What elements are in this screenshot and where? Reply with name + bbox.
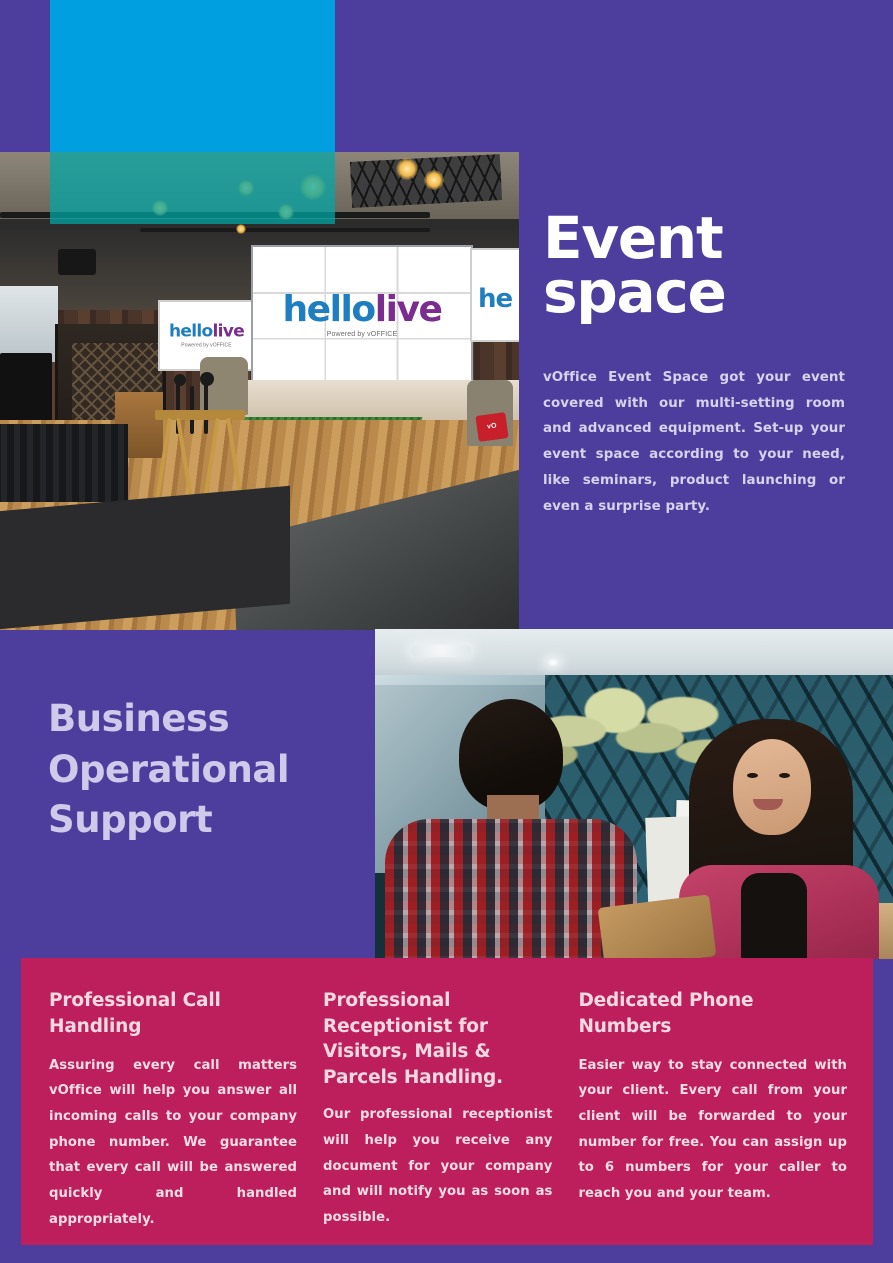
draped-table (0, 424, 128, 502)
eye (747, 773, 758, 778)
eye (779, 773, 790, 778)
left-window (0, 286, 58, 362)
stage-lamp (152, 200, 168, 216)
feature-column-call-handling: Professional Call Handling Assuring ever… (49, 988, 323, 1227)
ceiling-light-strip (411, 645, 471, 657)
event-space-text-block: Event space vOffice Event Space got your… (543, 212, 845, 519)
cyan-accent-block (50, 0, 335, 152)
business-operational-support-title: Business Operational Support (48, 694, 378, 846)
stage-lamp (396, 158, 418, 180)
ceiling-downlight (547, 659, 559, 666)
stage-lamp (238, 180, 254, 196)
ceiling-projector (58, 249, 96, 275)
inner-top (741, 873, 807, 959)
feature-column-receptionist: Professional Receptionist for Visitors, … (323, 988, 578, 1227)
stage-lamp (300, 174, 326, 200)
visitor-figure (395, 699, 627, 959)
feature-heading: Dedicated Phone Numbers (578, 988, 847, 1041)
cushion-label: vO (475, 412, 508, 442)
branded-cushion: vO (475, 412, 508, 442)
features-card: Professional Call Handling Assuring ever… (21, 958, 873, 1245)
hellolive-hello-text: he (478, 284, 512, 314)
page-title-line-2: space (543, 258, 726, 326)
plaid-shirt (385, 819, 637, 959)
stage-lamp (424, 170, 444, 190)
hellolive-live-text: live (375, 289, 442, 330)
stage-lamp (236, 224, 246, 234)
reception-photo (375, 629, 893, 959)
hellolive-live-text: live (213, 321, 245, 341)
feature-body: Assuring every call matters vOffice will… (49, 1053, 297, 1233)
page-title: Event space (543, 212, 845, 320)
face (733, 739, 811, 835)
ceiling-beam (140, 228, 430, 232)
hellolive-hello-text: hello (282, 289, 374, 330)
feature-heading: Professional Receptionist for Visitors, … (323, 988, 552, 1090)
led-video-wall: hellolive Powered by vOFFICE (253, 247, 471, 385)
ceiling-beam (0, 212, 430, 218)
hellolive-powered-by-text: Powered by vOFFICE (282, 331, 441, 338)
feature-body: Our professional receptionist will help … (323, 1102, 552, 1231)
brochure-page: hellolive Powered by vOFFICE hellolive P… (0, 0, 893, 1263)
hellolive-powered-by-text: Powered by vOFFICE (169, 342, 244, 348)
left-monitor (0, 353, 52, 425)
event-space-description: vOffice Event Space got your event cover… (543, 365, 845, 519)
event-space-photo: hellolive Powered by vOFFICE hellolive P… (0, 152, 519, 630)
feature-column-phone-numbers: Dedicated Phone Numbers Easier way to st… (578, 988, 847, 1227)
feature-heading: Professional Call Handling (49, 988, 297, 1041)
side-projection-screen: he (472, 250, 519, 340)
hellolive-hello-text: hello (169, 321, 213, 341)
feature-body: Easier way to stay connected with your c… (578, 1053, 847, 1207)
stage-lamp (278, 204, 294, 220)
